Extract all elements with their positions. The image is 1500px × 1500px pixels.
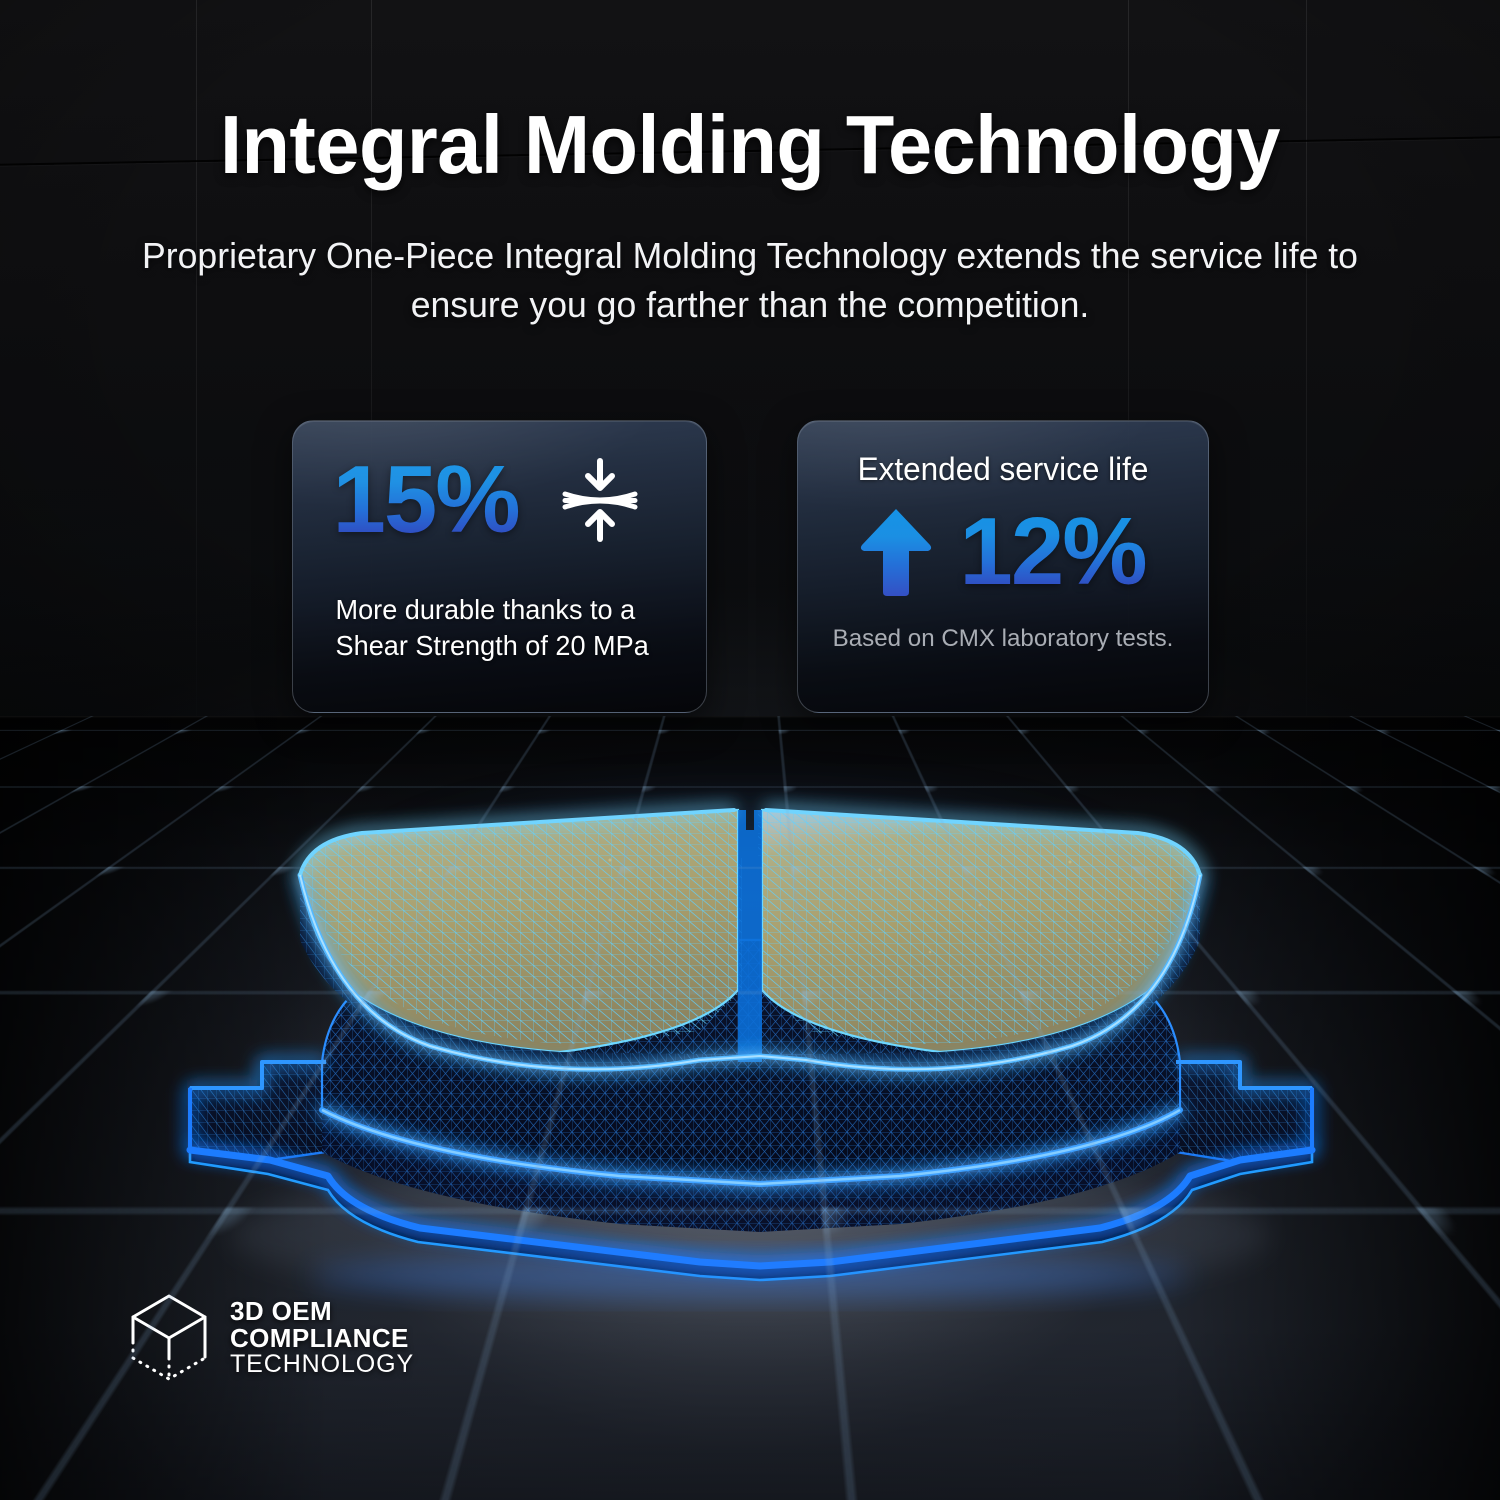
logo-badge: 3D OEM COMPLIANCE TECHNOLOGY xyxy=(128,1292,414,1384)
friction-material xyxy=(280,800,1220,1070)
page-subtitle: Proprietary One-Piece Integral Molding T… xyxy=(136,232,1365,329)
service-life-stat-row: 12% xyxy=(824,506,1182,598)
service-life-card[interactable]: Extended service life 12% Based on xyxy=(797,420,1209,713)
logo-line-1: 3D OEM xyxy=(230,1298,414,1325)
stat-cards-row: 15% More durable thanks to a Shear St xyxy=(0,420,1500,713)
brake-pad-svg xyxy=(0,690,1500,1330)
durability-card[interactable]: 15% More durable thanks to a Shear St xyxy=(292,420,707,713)
compression-icon xyxy=(561,457,639,543)
service-life-heading: Extended service life xyxy=(826,451,1179,488)
durability-stat-row: 15% xyxy=(333,455,674,544)
pad-glow-reflection xyxy=(310,1254,1190,1298)
poster-canvas: Integral Molding Technology Proprietary … xyxy=(0,0,1500,1500)
durability-stat-value: 15% xyxy=(333,455,519,544)
service-life-footnote: Based on CMX laboratory tests. xyxy=(826,624,1179,653)
service-life-stat-value: 12% xyxy=(959,507,1145,596)
durability-caption: More durable thanks to a Shear Strength … xyxy=(335,592,671,664)
arrow-up-icon xyxy=(859,506,933,598)
page-title: Integral Molding Technology xyxy=(34,103,1467,186)
wireframe-cube-icon xyxy=(128,1292,210,1384)
logo-line-3: TECHNOLOGY xyxy=(230,1352,414,1378)
logo-line-2: COMPLIANCE xyxy=(230,1325,414,1352)
header: Integral Molding Technology Proprietary … xyxy=(0,0,1500,329)
brake-pad-render xyxy=(0,690,1500,1330)
logo-text: 3D OEM COMPLIANCE TECHNOLOGY xyxy=(230,1298,414,1377)
